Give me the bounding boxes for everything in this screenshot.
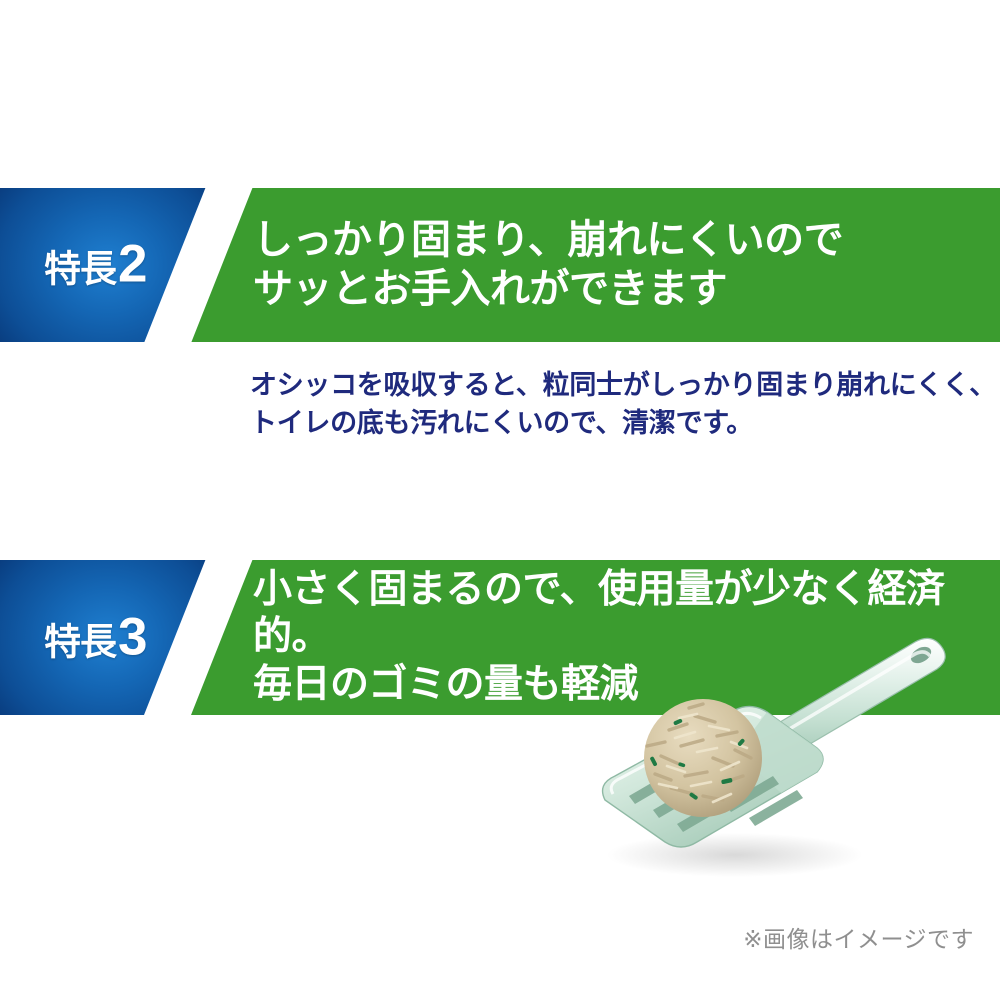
feature-banner-2: 特長 2 しっかり固まり、崩れにくいので サッとお手入れができます (0, 188, 1000, 342)
feature-badge-kanji: 特長 (44, 239, 116, 293)
image-disclaimer-note: ※画像はイメージです (743, 920, 974, 954)
feature-badge-number: 2 (118, 238, 147, 291)
feature-badge-kanji: 特長 (44, 611, 116, 665)
feature-badge: 特長 2 (44, 238, 147, 293)
feature-badge: 特長 3 (44, 610, 147, 665)
feature-badge-number: 3 (118, 610, 147, 663)
litter-scoop-illustration (585, 630, 965, 890)
feature-body-text: オシッコを吸収すると、粒同士がしっかり固まり崩れにくく、 トイレの底も汚れにくい… (250, 366, 996, 443)
feature-headline: しっかり固まり、崩れにくいので サッとお手入れができます (253, 216, 843, 314)
scoop-shadow (607, 833, 863, 877)
litter-clump (644, 699, 762, 817)
